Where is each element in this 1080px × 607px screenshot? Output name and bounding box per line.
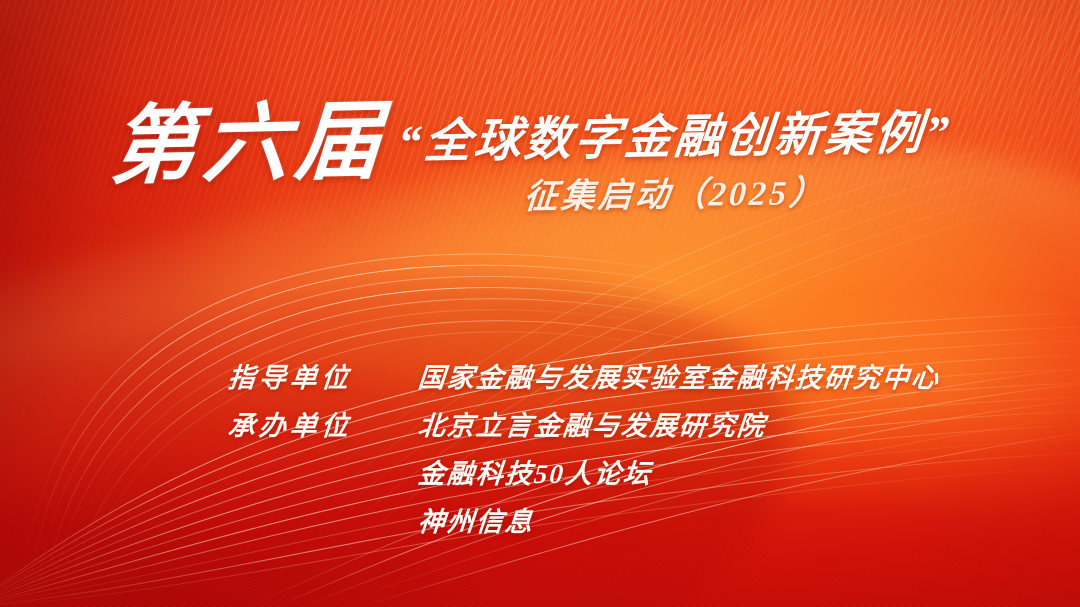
credits-block: 指导单位 国家金融与发展实验室金融科技研究中心 承办单位 北京立言金融与发展研究… <box>228 358 940 542</box>
credit-value-guidance-0: 国家金融与发展实验室金融科技研究中心 <box>416 358 941 398</box>
credit-value-organizer-1: 金融科技50人论坛 <box>416 454 941 494</box>
credit-label-guidance: 指导单位 <box>226 358 419 398</box>
credit-spacer-2 <box>228 502 418 542</box>
poster-content: 第六届 “全球数字金融创新案例” 征集启动（2025） 指导单位 国家金融与发展… <box>0 0 1080 607</box>
title-right-block: “全球数字金融创新案例” 征集启动（2025） <box>398 104 951 215</box>
credit-label-organizer: 承办单位 <box>226 406 419 446</box>
edition-title: 第六届 <box>108 98 390 190</box>
title-block: 第六届 “全球数字金融创新案例” 征集启动（2025） <box>108 104 951 215</box>
credit-value-organizer-2: 神州信息 <box>416 502 941 542</box>
main-title: “全球数字金融创新案例” <box>395 109 953 168</box>
subtitle: 征集启动（2025） <box>522 175 827 217</box>
poster-canvas: 第六届 “全球数字金融创新案例” 征集启动（2025） 指导单位 国家金融与发展… <box>0 0 1080 607</box>
credit-value-organizer-0: 北京立言金融与发展研究院 <box>416 406 941 446</box>
credit-spacer-1 <box>228 454 418 494</box>
